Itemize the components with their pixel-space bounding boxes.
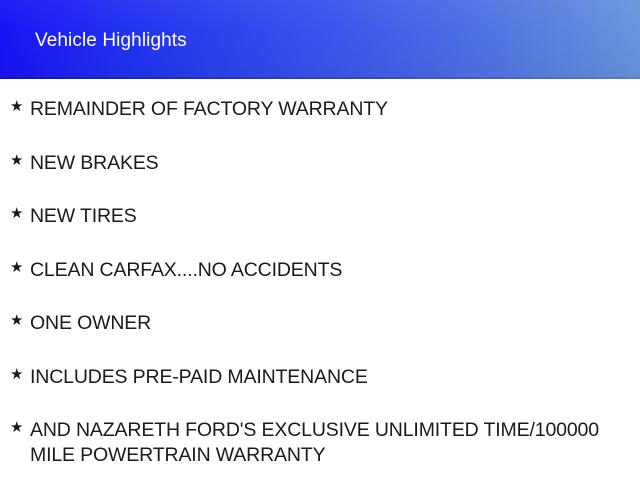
list-item-label: AND NAZARETH FORD'S EXCLUSIVE UNLIMITED … [30,400,636,468]
highlights-list: ★ REMAINDER OF FACTORY WARRANTY ★ NEW BR… [0,79,640,468]
star-icon: ★ [10,260,26,275]
list-item: ★ AND NAZARETH FORD'S EXCLUSIVE UNLIMITE… [0,400,640,468]
page-title: Vehicle Highlights [35,30,187,52]
list-item-label: NEW TIRES [30,186,636,229]
list-item-label: NEW BRAKES [30,133,636,176]
list-item-label: CLEAN CARFAX....NO ACCIDENTS [30,240,636,283]
list-item-label: ONE OWNER [30,293,636,336]
star-icon: ★ [10,367,26,382]
star-icon: ★ [10,99,26,114]
list-item: ★ INCLUDES PRE-PAID MAINTENANCE [0,347,640,401]
star-icon: ★ [10,313,26,328]
list-item: ★ ONE OWNER [0,293,640,347]
list-item: ★ REMAINDER OF FACTORY WARRANTY [0,79,640,133]
star-icon: ★ [10,420,26,435]
panel-header: Vehicle Highlights [0,0,640,79]
star-icon: ★ [10,206,26,221]
list-item-label: REMAINDER OF FACTORY WARRANTY [30,79,636,122]
list-item: ★ CLEAN CARFAX....NO ACCIDENTS [0,240,640,294]
list-item-label: INCLUDES PRE-PAID MAINTENANCE [30,347,636,390]
star-icon: ★ [10,153,26,168]
list-item: ★ NEW BRAKES [0,133,640,187]
vehicle-highlights-panel: Vehicle Highlights ★ REMAINDER OF FACTOR… [0,0,640,480]
list-item: ★ NEW TIRES [0,186,640,240]
